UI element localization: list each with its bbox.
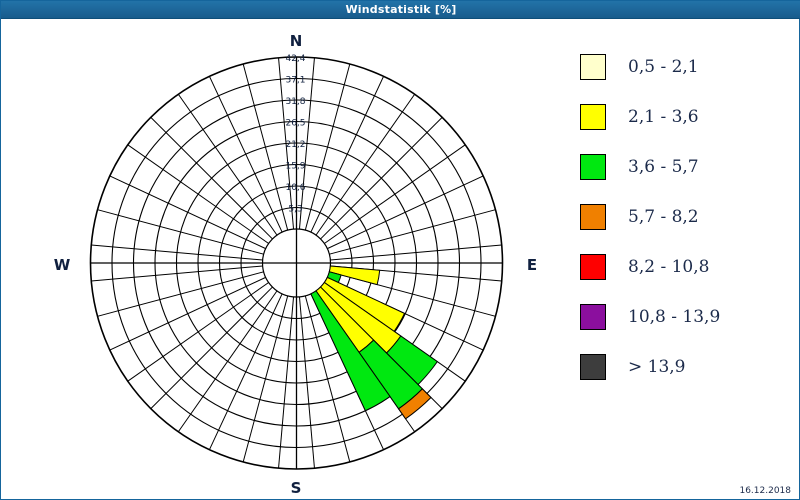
legend-item: 2,1 - 3,6 [580,92,790,142]
grid-spoke [151,117,273,239]
title-bar: Windstatistik [%] [1,1,800,19]
wind-rose-petals [311,266,437,419]
window-title: Windstatistik [%] [1,1,800,19]
legend: 0,5 - 2,12,1 - 3,63,6 - 5,75,7 - 8,28,2 … [580,42,790,392]
windstatistik-window: Windstatistik [%] 5,310,615,921,226,531,… [0,0,800,500]
radial-tick-label: 31,8 [285,97,305,107]
legend-item-label: 2,1 - 3,6 [628,107,699,127]
legend-item-label: 10,8 - 13,9 [628,307,720,327]
radial-tick-label: 21,2 [285,140,305,150]
legend-item: > 13,9 [580,342,790,392]
legend-item-label: 8,2 - 10,8 [628,257,709,277]
legend-color-swatch [580,204,606,230]
legend-item-label: > 13,9 [628,357,686,377]
legend-color-swatch [580,304,606,330]
grid-spoke [151,287,273,409]
legend-color-swatch [580,254,606,280]
radial-tick-label: 37,1 [285,76,305,86]
legend-color-swatch [580,154,606,180]
date-stamp: 16.12.2018 [739,486,791,496]
legend-color-swatch [580,54,606,80]
legend-item: 8,2 - 10,8 [580,242,790,292]
compass-label-west: W [54,256,71,274]
legend-item: 10,8 - 13,9 [580,292,790,342]
legend-color-swatch [580,104,606,130]
radial-tick-label: 10,6 [285,183,305,193]
radial-tick-label: 15,9 [285,162,305,172]
radial-tick-label: 26,5 [285,119,305,129]
compass-label-south: S [291,479,302,497]
legend-item-label: 5,7 - 8,2 [628,207,699,227]
compass-label-north: N [290,32,303,50]
radial-tick-label: 5,3 [288,205,302,215]
compass-label-east: E [527,256,537,274]
legend-color-swatch [580,354,606,380]
legend-item: 5,7 - 8,2 [580,192,790,242]
grid-spoke [321,117,443,239]
legend-item-label: 0,5 - 2,1 [628,57,699,77]
legend-item: 0,5 - 2,1 [580,42,790,92]
radial-tick-label: 42,4 [285,54,305,64]
radial-axis-labels: 5,310,615,921,226,531,837,142,4 [285,54,305,215]
legend-item-label: 3,6 - 5,7 [628,157,699,177]
legend-item: 3,6 - 5,7 [580,142,790,192]
plot-area: 5,310,615,921,226,531,837,142,4 N E S W … [2,20,799,499]
